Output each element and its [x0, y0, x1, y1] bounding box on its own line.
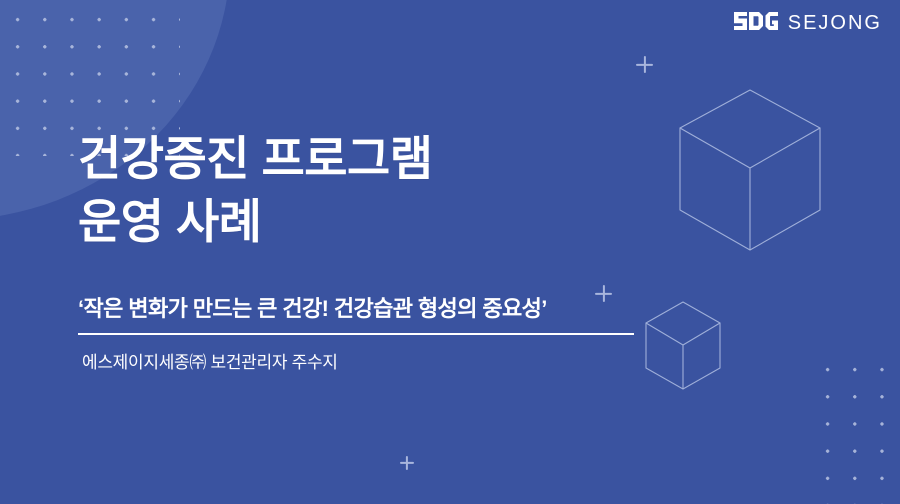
plus-mark-icon: [400, 456, 414, 470]
title-slide: SEJONG 건강증진 프로그램 운영 사례 ‘작은 변화가 만드는 큰 건강!…: [0, 0, 900, 504]
slide-title: 건강증진 프로그램 운영 사례: [78, 128, 818, 253]
dot-grid-bottom-right: [812, 354, 900, 504]
presenter-line: 에스제이지세종㈜ 보건관리자 주수지: [78, 352, 634, 374]
sdg-logo-mark-icon: [733, 9, 779, 38]
sdg-sejong-logo: SEJONG: [733, 9, 882, 37]
slide-content: 건강증진 프로그램 운영 사례 ‘작은 변화가 만드는 큰 건강! 건강습관 형…: [78, 128, 818, 374]
slide-subtitle: ‘작은 변화가 만드는 큰 건강! 건강습관 형성의 중요성’: [78, 295, 634, 324]
sejong-wordmark: SEJONG: [788, 13, 882, 33]
subtitle-divider: [78, 333, 634, 335]
subtitle-block: ‘작은 변화가 만드는 큰 건강! 건강습관 형성의 중요성’ 에스제이지세종㈜…: [78, 295, 634, 374]
plus-mark-icon: [636, 56, 653, 73]
